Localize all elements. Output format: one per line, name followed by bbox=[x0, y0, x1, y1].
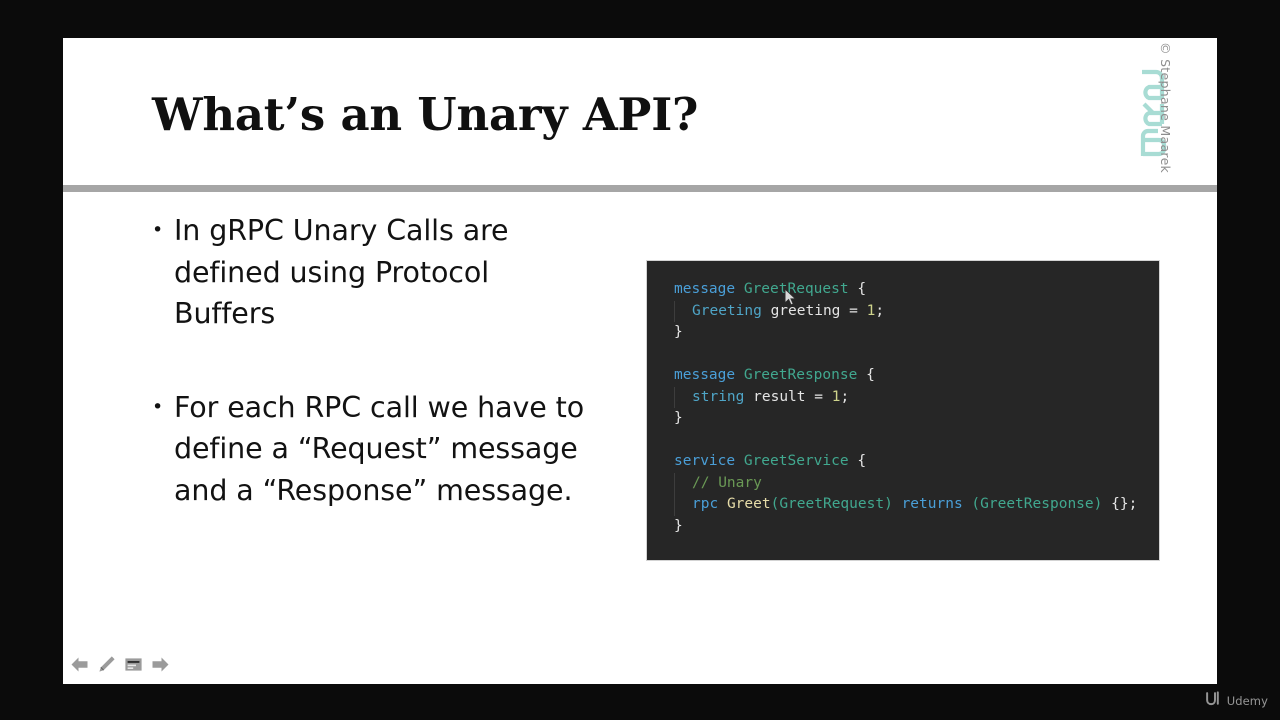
code-token: ; bbox=[840, 389, 849, 405]
code-line: message GreetResponse { bbox=[647, 365, 1159, 387]
code-token: } bbox=[674, 324, 683, 340]
code-line: } bbox=[647, 516, 1159, 538]
title-band: What’s an Unary API? bbox=[63, 38, 1217, 185]
code-token bbox=[762, 303, 771, 319]
code-token: { bbox=[857, 367, 874, 383]
title-divider bbox=[63, 185, 1217, 192]
arrow-left-icon[interactable] bbox=[69, 654, 90, 675]
code-line: message GreetRequest { bbox=[647, 279, 1159, 301]
bullet-list: In gRPC Unary Calls are defined using Pr… bbox=[152, 210, 592, 563]
code-token bbox=[735, 367, 744, 383]
code-block: message GreetRequest {Greeting greeting … bbox=[646, 260, 1160, 561]
code-token: Greet bbox=[727, 496, 771, 512]
brand-block: © Stephane Maarek bbox=[1129, 38, 1209, 188]
page-title: What’s an Unary API? bbox=[152, 88, 698, 141]
code-token bbox=[735, 281, 744, 297]
code-line bbox=[647, 344, 1159, 366]
code-token: GreetResponse bbox=[744, 367, 858, 383]
code-token: string bbox=[692, 389, 744, 405]
code-token: } bbox=[674, 518, 683, 534]
code-token bbox=[893, 496, 902, 512]
code-token: result bbox=[753, 389, 805, 405]
slide-canvas: What’s an Unary API? bbox=[63, 38, 1217, 684]
code-token: { bbox=[849, 281, 866, 297]
code-line bbox=[647, 430, 1159, 452]
code-line: } bbox=[647, 408, 1159, 430]
code-line: service GreetService { bbox=[647, 451, 1159, 473]
code-token: ; bbox=[875, 303, 884, 319]
list-item: For each RPC call we have to define a “R… bbox=[152, 387, 592, 512]
code-token: GreetRequest bbox=[779, 496, 884, 512]
pencil-icon[interactable] bbox=[96, 654, 117, 675]
code-token bbox=[718, 496, 727, 512]
code-token: = bbox=[840, 303, 866, 319]
slide-nav-bar bbox=[69, 654, 171, 675]
code-token: { bbox=[849, 453, 866, 469]
notes-icon[interactable] bbox=[123, 654, 144, 675]
code-line: } bbox=[647, 322, 1159, 344]
udemy-label: Udemy bbox=[1227, 694, 1268, 708]
code-token: {}; bbox=[1102, 496, 1137, 512]
code-token: ) bbox=[884, 496, 893, 512]
code-token bbox=[744, 389, 753, 405]
code-token: service bbox=[674, 453, 735, 469]
code-token: rpc bbox=[692, 496, 718, 512]
code-token: Greeting bbox=[692, 303, 762, 319]
list-item: In gRPC Unary Calls are defined using Pr… bbox=[152, 210, 592, 335]
code-token: // Unary bbox=[692, 475, 762, 491]
copyright-text: © Stephane Maarek bbox=[1158, 42, 1173, 173]
code-line: string result = 1; bbox=[647, 387, 1159, 409]
code-token: GreetRequest bbox=[744, 281, 849, 297]
code-line: // Unary bbox=[647, 473, 1159, 495]
code-line: Greeting greeting = 1; bbox=[647, 301, 1159, 323]
code-token: message bbox=[674, 281, 735, 297]
screen: What’s an Unary API? bbox=[0, 0, 1280, 720]
code-token bbox=[735, 453, 744, 469]
code-token: } bbox=[674, 410, 683, 426]
udemy-watermark: Udemy bbox=[1205, 691, 1268, 711]
code-token: ( bbox=[971, 496, 980, 512]
code-token: = bbox=[806, 389, 832, 405]
code-token: message bbox=[674, 367, 735, 383]
code-token: returns bbox=[902, 496, 963, 512]
udemy-logo-icon bbox=[1205, 691, 1222, 711]
arrow-right-icon[interactable] bbox=[150, 654, 171, 675]
code-line: rpc Greet(GreetRequest) returns (GreetRe… bbox=[647, 494, 1159, 516]
code-token: GreetService bbox=[744, 453, 849, 469]
code-token: greeting bbox=[771, 303, 841, 319]
code-token: GreetResponse bbox=[980, 496, 1094, 512]
